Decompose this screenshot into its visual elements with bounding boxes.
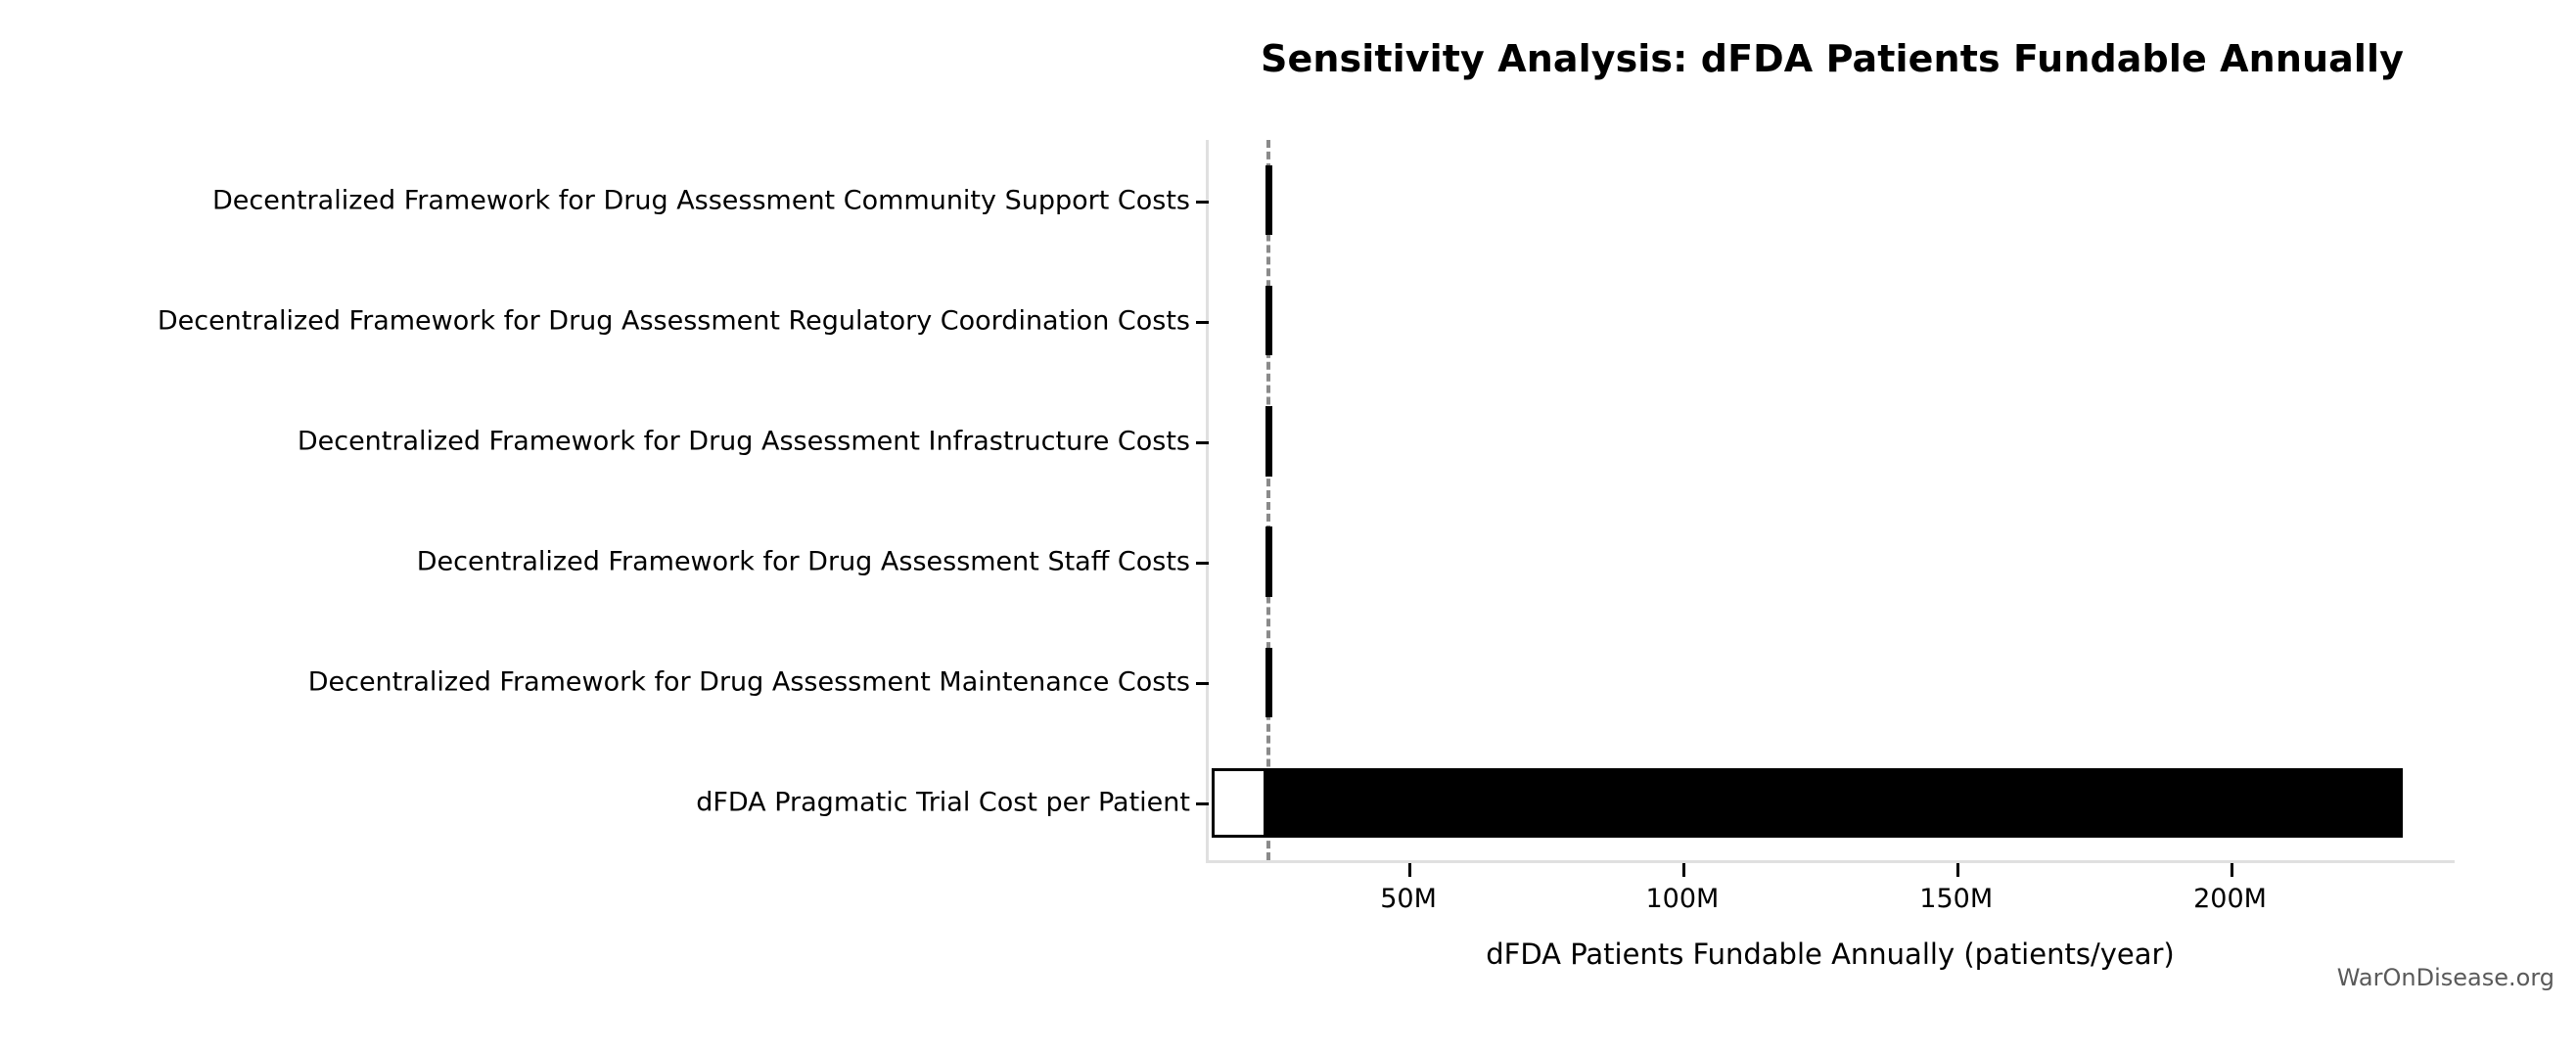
bar-row [1209, 286, 2455, 355]
x-axis-tick-mark [1682, 863, 1685, 877]
plot-area [1206, 140, 2455, 863]
watermark: WarOnDisease.org [2337, 964, 2554, 991]
bar-segment-low [1212, 768, 1266, 838]
bar-row [1209, 768, 2455, 838]
x-axis-tick-label: 150M [1919, 884, 1993, 914]
y-axis-tick-label: Decentralized Framework for Drug Assessm… [308, 667, 1190, 698]
y-axis-tick-label: dFDA Pragmatic Trial Cost per Patient [696, 788, 1190, 818]
bar-segment-high [1266, 648, 1272, 717]
y-axis-tick-mark [1196, 201, 1209, 204]
sensitivity-tornado-chart: Sensitivity Analysis: dFDA Patients Fund… [0, 0, 2576, 1052]
x-axis-tick-label: 200M [2193, 884, 2267, 914]
bar-segment-high [1266, 768, 2403, 838]
bar-row [1209, 165, 2455, 235]
x-axis-label: dFDA Patients Fundable Annually (patient… [1206, 938, 2455, 971]
baseline-reference-line [1266, 140, 1270, 860]
bar-row [1209, 526, 2455, 596]
bar-segment-high [1266, 526, 1272, 596]
bar-segment-high [1266, 165, 1272, 235]
y-axis-tick-label: Decentralized Framework for Drug Assessm… [417, 547, 1190, 577]
x-axis-tick-mark [2231, 863, 2233, 877]
bar-row [1209, 406, 2455, 476]
y-axis-tick-label: Decentralized Framework for Drug Assessm… [212, 185, 1190, 215]
bar-segment-high [1266, 406, 1272, 476]
bar-segment-high [1266, 286, 1272, 355]
y-axis-tick-mark [1196, 802, 1209, 805]
x-axis-tick-label: 100M [1645, 884, 1719, 914]
y-axis-tick-mark [1196, 321, 1209, 324]
y-axis-tick-mark [1196, 562, 1209, 565]
y-axis-tick-label: Decentralized Framework for Drug Assessm… [298, 426, 1190, 456]
y-axis-tick-mark [1196, 441, 1209, 444]
x-axis-tick-label: 50M [1380, 884, 1437, 914]
x-axis-tick-mark [1408, 863, 1411, 877]
page-title: Sensitivity Analysis: dFDA Patients Fund… [1206, 37, 2459, 80]
y-axis-tick-mark [1196, 682, 1209, 685]
bar-row [1209, 648, 2455, 717]
x-axis-tick-mark [1956, 863, 1959, 877]
y-axis-tick-label: Decentralized Framework for Drug Assessm… [158, 305, 1190, 336]
